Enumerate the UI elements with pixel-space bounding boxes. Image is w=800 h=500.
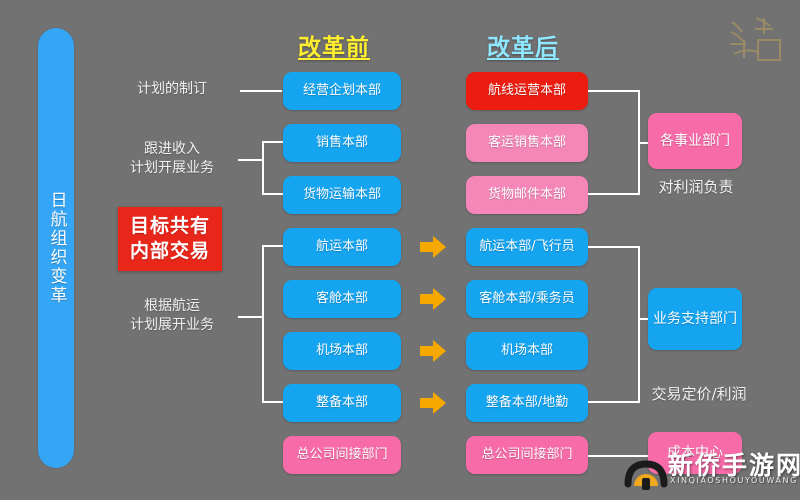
wire-shipping-stub	[238, 316, 264, 318]
after-box-3[interactable]: 航运本部/飞行员	[466, 228, 588, 266]
before-box-2[interactable]: 货物运输本部	[283, 176, 401, 214]
emphasis-line-2: 内部交易	[130, 239, 210, 264]
before-box-6[interactable]: 整备本部	[283, 384, 401, 422]
wire-shipping-bottom	[262, 401, 284, 403]
result-box-support-dept[interactable]: 业务支持部门	[648, 288, 742, 350]
wire-income-bottom	[262, 193, 284, 195]
result-box-business-units[interactable]: 各事业部门	[648, 113, 742, 169]
before-box-3[interactable]: 航运本部	[283, 228, 401, 266]
arrow-right-icon-1	[420, 288, 446, 310]
header-before-reform: 改革前	[298, 28, 370, 62]
result-box-cost-center[interactable]: 成本中心	[648, 432, 742, 474]
before-box-1[interactable]: 销售本部	[283, 124, 401, 162]
wire-bu-bottom	[588, 193, 640, 195]
before-box-7[interactable]: 总公司间接部门	[283, 436, 401, 474]
note-transfer-pricing: 交易定价/利润	[624, 385, 774, 404]
slide-canvas: 日航组织变革 改革前 改革后 计划的制订 跟进收入 计划开展业务 根据航运 计划…	[0, 0, 800, 500]
seal-logo-icon	[722, 10, 788, 70]
wire-bu-top	[588, 90, 640, 92]
after-box-4[interactable]: 客舱本部/乘务员	[466, 280, 588, 318]
wire-sup-spine	[638, 246, 640, 403]
after-box-7[interactable]: 总公司间接部门	[466, 436, 588, 474]
arrow-right-icon-0	[420, 236, 446, 258]
wire-sup-top	[588, 246, 640, 248]
arrow-right-icon-2	[420, 340, 446, 362]
after-box-1[interactable]: 客运销售本部	[466, 124, 588, 162]
wire-income-top	[262, 141, 284, 143]
emphasis-line-1: 目标共有	[130, 214, 210, 239]
emphasis-block: 目标共有 内部交易	[118, 207, 222, 271]
arrow-right-icon-3	[420, 392, 446, 414]
wire-plan-to-box	[240, 90, 282, 92]
side-banner-label: 日航组织变革	[38, 28, 74, 468]
after-box-5[interactable]: 机场本部	[466, 332, 588, 370]
before-box-0[interactable]: 经营企划本部	[283, 72, 401, 110]
note-profit-responsibility: 对利润负责	[634, 178, 758, 197]
watermark-pinyin: XINQIAOSHOUYOUWANG	[670, 476, 798, 485]
before-box-4[interactable]: 客舱本部	[283, 280, 401, 318]
label-per-shipping-plan: 根据航运 计划展开业务	[100, 297, 244, 335]
after-box-6[interactable]: 整备本部/地勤	[466, 384, 588, 422]
wire-shipping-spine	[262, 245, 264, 402]
after-box-2[interactable]: 货物邮件本部	[466, 176, 588, 214]
wire-income-stub	[238, 159, 264, 161]
wire-shipping-top	[262, 245, 284, 247]
label-plan-making: 计划的制订	[108, 80, 236, 99]
after-box-0[interactable]: 航线运营本部	[466, 72, 588, 110]
before-box-5[interactable]: 机场本部	[283, 332, 401, 370]
wire-income-spine	[262, 141, 264, 195]
label-follow-income: 跟进收入 计划开展业务	[100, 140, 244, 178]
header-after-reform: 改革后	[487, 28, 559, 62]
